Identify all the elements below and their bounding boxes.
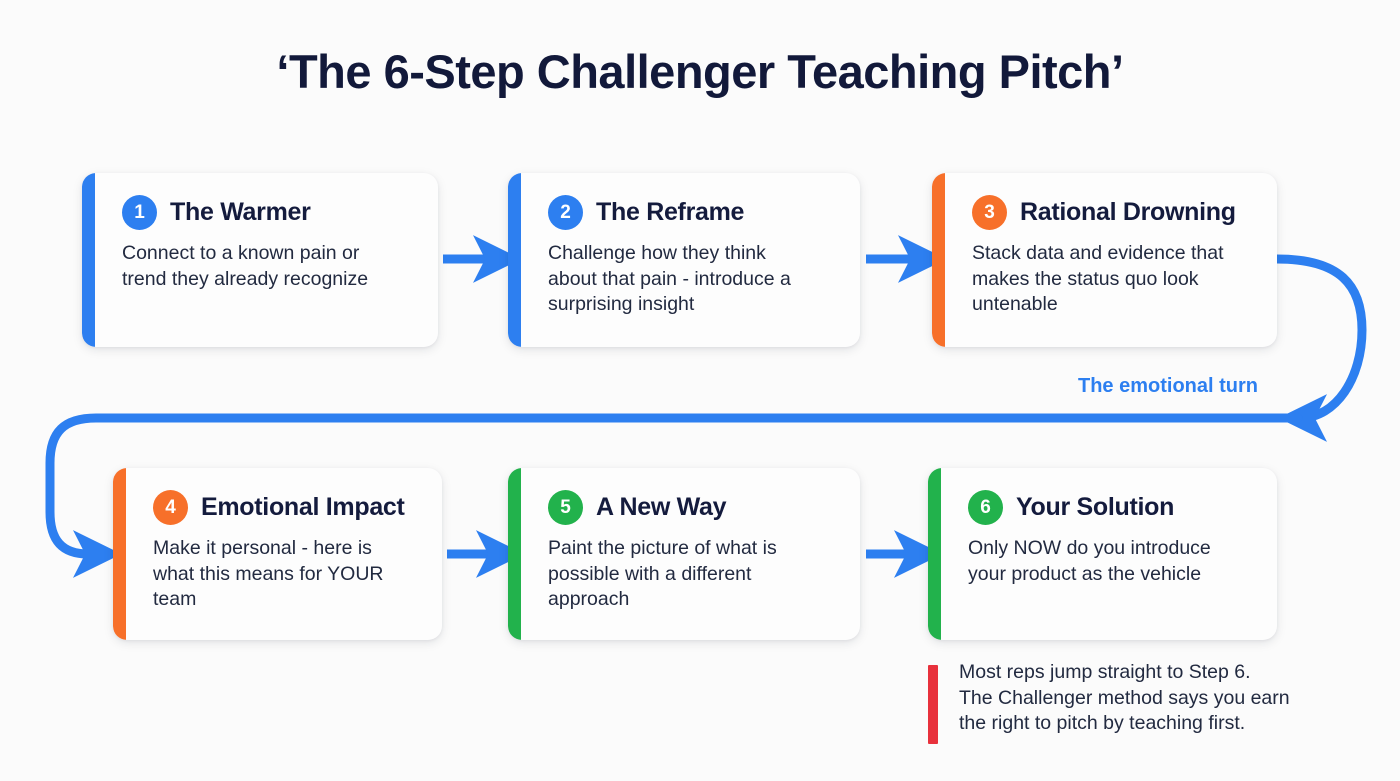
step-card-4[interactable]: 4 Emotional Impact Make it personal - he…	[113, 468, 442, 640]
step-accent-bar-3	[932, 173, 945, 347]
step-title-6: Your Solution	[1016, 493, 1174, 522]
step-accent-bar-1	[82, 173, 95, 347]
step-number-badge-2: 2	[548, 195, 583, 230]
step-accent-bar-6	[928, 468, 941, 640]
step-body-4: Make it personal - here iswhat this mean…	[153, 536, 424, 613]
step-title-2: The Reframe	[596, 198, 744, 227]
page-title: ‘The 6-Step Challenger Teaching Pitch’	[0, 44, 1400, 99]
step-card-2[interactable]: 2 The Reframe Challenge how they thinkab…	[508, 173, 860, 347]
diagram-canvas: ‘The 6-Step Challenger Teaching Pitch’	[0, 0, 1400, 781]
step-accent-bar-2	[508, 173, 521, 347]
step-body-3: Stack data and evidence thatmakes the st…	[972, 241, 1259, 318]
step-card-6[interactable]: 6 Your Solution Only NOW do you introduc…	[928, 468, 1277, 640]
step-title-4: Emotional Impact	[201, 493, 405, 522]
step-accent-bar-4	[113, 468, 126, 640]
step-accent-bar-5	[508, 468, 521, 640]
step-title-3: Rational Drowning	[1020, 198, 1236, 227]
step-body-1: Connect to a known pain ortrend they alr…	[122, 241, 420, 292]
footnote-text: Most reps jump straight to Step 6.The Ch…	[959, 660, 1290, 744]
footnote: Most reps jump straight to Step 6.The Ch…	[928, 660, 1328, 744]
footnote-accent-bar	[928, 665, 938, 744]
step-number-badge-4: 4	[153, 490, 188, 525]
emotional-turn-label: The emotional turn	[1078, 375, 1258, 398]
step-number-badge-6: 6	[968, 490, 1003, 525]
step-title-1: The Warmer	[170, 198, 311, 227]
step-body-5: Paint the picture of what ispossible wit…	[548, 536, 842, 613]
step-body-2: Challenge how they thinkabout that pain …	[548, 241, 842, 318]
step-number-badge-1: 1	[122, 195, 157, 230]
step-body-6: Only NOW do you introduceyour product as…	[968, 536, 1259, 587]
step-number-badge-5: 5	[548, 490, 583, 525]
step-title-5: A New Way	[596, 493, 726, 522]
step-card-3[interactable]: 3 Rational Drowning Stack data and evide…	[932, 173, 1277, 347]
step-card-1[interactable]: 1 The Warmer Connect to a known pain ort…	[82, 173, 438, 347]
step-card-5[interactable]: 5 A New Way Paint the picture of what is…	[508, 468, 860, 640]
step-number-badge-3: 3	[972, 195, 1007, 230]
